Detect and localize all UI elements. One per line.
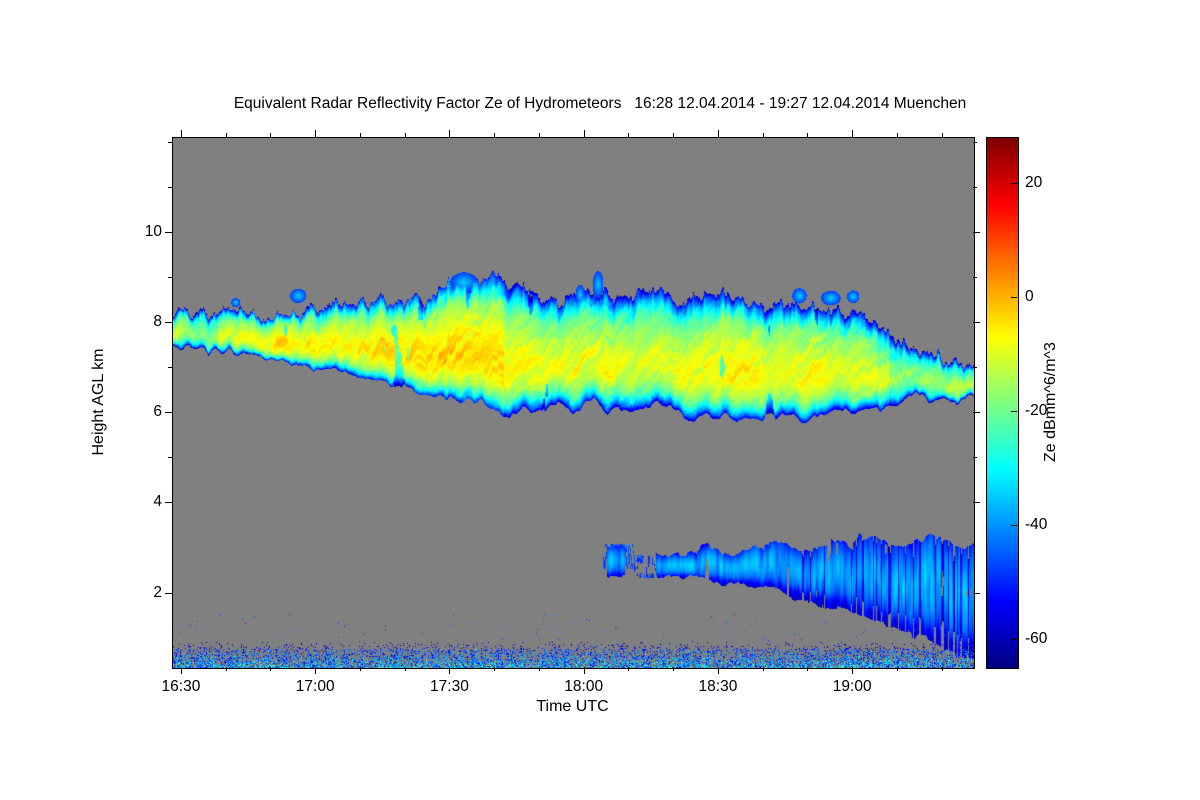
y-tick-label-4: 4 [122,493,162,511]
x-minor-tick [763,667,764,671]
colorbar-tick--40 [1011,525,1017,526]
y-minor-tick [168,142,172,143]
colorbar-tick--20 [1011,411,1017,412]
x-tick-label-1700: 17:00 [296,678,335,696]
y-minor-tick [973,277,977,278]
y-tick-label-8: 8 [122,313,162,331]
x-minor-tick [628,667,629,671]
y-tick-right-2 [973,593,980,594]
x-tick-label-1830: 18:30 [699,678,738,696]
chart-title: Equivalent Radar Reflectivity Factor Ze … [0,95,1200,113]
y-tick-2 [165,593,172,594]
x-minor-tick [673,133,674,137]
y-tick-label-10: 10 [122,223,162,241]
x-minor-tick [539,667,540,671]
x-minor-tick [897,133,898,137]
y-tick-4 [165,502,172,503]
y-tick-10 [165,232,172,233]
x-minor-tick [807,667,808,671]
y-minor-tick [168,457,172,458]
y-tick-right-4 [973,502,980,503]
reflectivity-heatmap-canvas [173,138,974,668]
x-minor-tick [494,133,495,137]
y-minor-tick [973,142,977,143]
x-minor-tick [360,133,361,137]
colorbar-tick-label--40: -40 [1025,516,1047,534]
colorbar-gradient [987,138,1018,668]
y-tick-right-8 [973,322,980,323]
x-minor-tick [226,133,227,137]
colorbar [986,137,1019,669]
x-tick-1800 [584,667,585,674]
x-tick-1630 [181,667,182,674]
x-minor-tick [360,667,361,671]
x-minor-tick [270,667,271,671]
x-tick-1730 [449,667,450,674]
y-minor-tick [168,277,172,278]
y-minor-tick [168,367,172,368]
y-tick-label-6: 6 [122,403,162,421]
plot-area [172,137,975,669]
y-tick-8 [165,322,172,323]
colorbar-tick-label-0: 0 [1025,288,1034,306]
x-tick-top-1730 [449,130,450,137]
x-tick-top-1700 [315,130,316,137]
colorbar-tick-label-20: 20 [1025,174,1042,192]
x-tick-label-1800: 18:00 [564,678,603,696]
x-tick-top-1630 [181,130,182,137]
y-tick-6 [165,412,172,413]
colorbar-tick-20 [1011,183,1017,184]
colorbar-label: Ze dBmm^6/m^3 [1042,342,1060,462]
x-minor-tick [494,667,495,671]
x-minor-tick [226,667,227,671]
x-tick-1830 [718,667,719,674]
y-minor-tick [168,187,172,188]
x-minor-tick [270,133,271,137]
y-minor-tick [973,367,977,368]
x-axis-label: Time UTC [172,698,973,716]
x-tick-label-1900: 19:00 [833,678,872,696]
x-minor-tick [897,667,898,671]
colorbar-tick--60 [1011,639,1017,640]
x-minor-tick [942,667,943,671]
y-axis-label: Height AGL km [90,348,108,455]
x-tick-label-1630: 16:30 [162,678,201,696]
colorbar-tick-0 [1011,297,1017,298]
x-minor-tick [628,133,629,137]
y-minor-tick [973,457,977,458]
colorbar-tick-label--60: -60 [1025,630,1047,648]
x-tick-top-1830 [718,130,719,137]
x-minor-tick [405,133,406,137]
x-tick-top-1900 [852,130,853,137]
x-tick-label-1730: 17:30 [430,678,469,696]
x-minor-tick [763,133,764,137]
x-tick-1900 [852,667,853,674]
x-minor-tick [942,133,943,137]
x-minor-tick [405,667,406,671]
y-tick-right-6 [973,412,980,413]
x-minor-tick [539,133,540,137]
radar-reflectivity-figure: Equivalent Radar Reflectivity Factor Ze … [0,0,1200,800]
y-tick-label-2: 2 [122,584,162,602]
x-tick-top-1800 [584,130,585,137]
x-tick-1700 [315,667,316,674]
x-minor-tick [807,133,808,137]
y-tick-right-10 [973,232,980,233]
y-minor-tick [973,187,977,188]
x-minor-tick [673,667,674,671]
